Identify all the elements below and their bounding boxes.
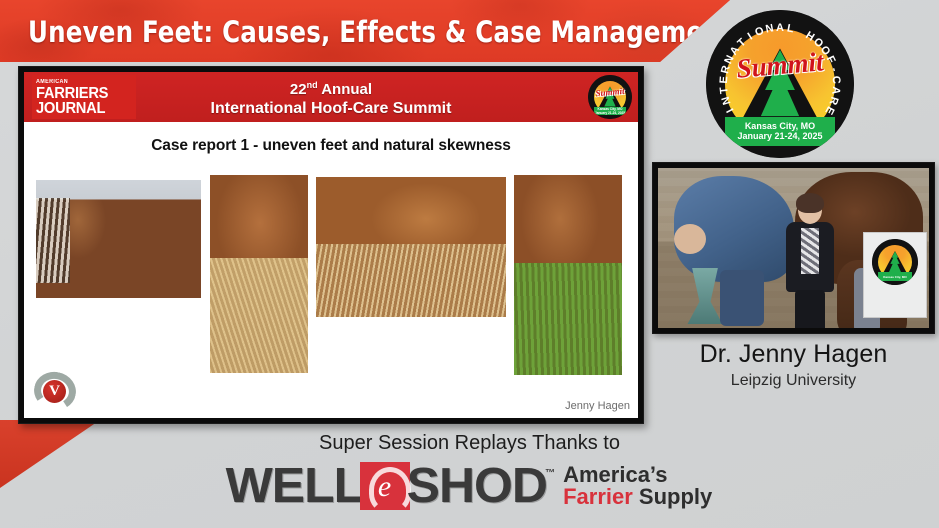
photo-foal-hindquarters xyxy=(210,175,308,373)
veterinary-faculty-logo: V xyxy=(34,372,76,410)
farrier-legs xyxy=(720,270,764,326)
foal-leg-right xyxy=(266,319,278,345)
slide-photo-row xyxy=(24,175,638,395)
photo-foal-on-pasture xyxy=(514,175,622,375)
well-shod-word-shod: SHOD xyxy=(406,462,546,510)
summit-logo-icon-podium: Kansas City, MO xyxy=(872,239,918,285)
top-title-banner: Uneven Feet: Causes, Effects & Case Mana… xyxy=(0,0,730,62)
photo-foal-nursing xyxy=(316,177,506,317)
vet-v-monogram-icon: V xyxy=(43,380,66,403)
presentation-stage: Uneven Feet: Causes, Effects & Case Mana… xyxy=(0,0,939,528)
well-shod-e-letter: e xyxy=(378,472,391,502)
sponsor-logo-wrap[interactable]: WELL e SHOD ™ America’s Farrier Supply xyxy=(0,462,939,510)
presenter-hair xyxy=(796,193,824,213)
presenter-shirt xyxy=(801,228,819,274)
farrier-head xyxy=(674,224,706,254)
summit-location-large: Kansas City, MO xyxy=(745,121,815,131)
well-shod-tagline: America’s Farrier Supply xyxy=(563,464,712,508)
slide-header-bar: AMERICAN FARRIERS JOURNAL 22nd Annual In… xyxy=(24,72,638,122)
well-shod-logo[interactable]: WELL e SHOD ™ America’s Farrier Supply xyxy=(227,462,713,510)
tagline-line-2: Farrier Supply xyxy=(563,486,712,508)
tagline-supply: Supply xyxy=(633,484,712,509)
tagline-farrier: Farrier xyxy=(563,484,633,509)
slide-frame[interactable]: AMERICAN FARRIERS JOURNAL 22nd Annual In… xyxy=(18,66,644,424)
summit-base-large: Kansas City, MO January 21-24, 2025 xyxy=(725,117,835,147)
presenter-figure xyxy=(782,196,838,328)
well-shod-word-well: WELL xyxy=(225,462,362,510)
presenter-name: Dr. Jenny Hagen xyxy=(652,340,935,369)
summit-base-small: Kansas City, MO January 21-24, 2025 xyxy=(594,107,627,116)
summit-logo-icon-small: Summit Kansas City, MO January 21-24, 20… xyxy=(588,75,632,119)
slide-body-title: Case report 1 - uneven feet and natural … xyxy=(24,137,638,155)
slide-photo-credit: Jenny Hagen xyxy=(565,400,630,412)
presenter-affiliation: Leipzig University xyxy=(652,372,935,390)
summit-logo-icon-large: Summit INTERNATIONAL HOOF-CARE Kansas Ci… xyxy=(706,10,854,158)
summit-dates-large: January 21-24, 2025 xyxy=(737,131,822,141)
summit-base-podium: Kansas City, MO xyxy=(878,272,912,281)
afj-line-farriers: FARRIERS xyxy=(36,86,128,101)
slide-header-line2: International Hoof-Care Summit xyxy=(211,99,452,118)
tagline-line-1: America’s xyxy=(563,464,712,486)
photo-mare-and-foal xyxy=(36,180,201,298)
summit-dates-small: January 21-24, 2025 xyxy=(595,111,625,115)
podium-sign: Kansas City, MO xyxy=(863,232,927,318)
presenter-trousers xyxy=(795,290,825,328)
presenter-video-frame[interactable]: Kansas City, MO xyxy=(652,162,935,334)
sponsor-thanks-text: Super Session Replays Thanks to xyxy=(0,432,939,455)
horseshoe-e-icon: e xyxy=(360,462,410,510)
afj-line-journal: JOURNAL xyxy=(36,101,128,116)
summit-location-podium: Kansas City, MO xyxy=(883,275,906,279)
slide-header-text: 22nd Annual International Hoof-Care Summ… xyxy=(211,76,452,118)
presenter-video-feed: Kansas City, MO xyxy=(658,168,929,328)
session-title: Uneven Feet: Causes, Effects & Case Mana… xyxy=(28,15,730,49)
slide-header-line1: 22nd Annual xyxy=(211,76,452,99)
american-farriers-journal-logo: AMERICAN FARRIERS JOURNAL xyxy=(32,75,136,119)
slide-content: AMERICAN FARRIERS JOURNAL 22nd Annual In… xyxy=(24,72,638,418)
foal-leg-left xyxy=(228,341,240,367)
